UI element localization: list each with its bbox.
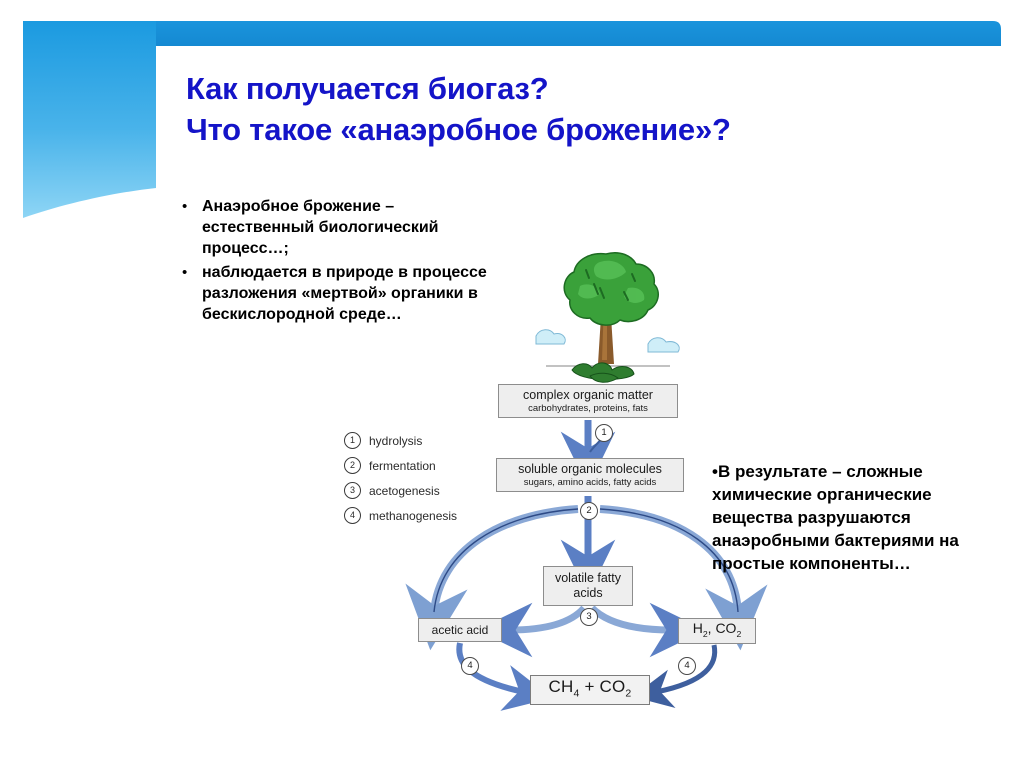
legend-item: 3 acetogenesis [344, 478, 504, 503]
node-methane-carbon-dioxide: CH4 + CO2 [530, 675, 650, 705]
node-acetic-acid: acetic acid [418, 618, 502, 642]
node-volatile-fatty-acids: volatile fatty acids [543, 566, 633, 606]
step-marker-4-left: 4 [461, 657, 479, 675]
node-hydrogen-carbon-dioxide: H2, CO2 [678, 618, 756, 644]
left-bullet-list: • Анаэробное брожение – естественный био… [180, 196, 510, 328]
tree-illustration [528, 240, 688, 390]
list-item: • Анаэробное брожение – естественный био… [180, 196, 510, 259]
right-conclusion-text: •В результате – сложные химические орган… [712, 460, 1012, 575]
legend-number-icon: 1 [344, 432, 361, 449]
node-title: H2, CO2 [693, 621, 742, 642]
node-subtitle: sugars, amino acids, fatty acids [524, 477, 657, 489]
title-line-1: Как получается биогаз? [186, 68, 916, 109]
title-line-2: Что такое «анаэробное брожение»? [186, 109, 916, 150]
legend-label: methanogenesis [369, 509, 457, 523]
node-title: acetic acid [432, 623, 489, 638]
step-marker-3: 3 [580, 608, 598, 626]
node-complex-organic-matter: complex organic matter carbohydrates, pr… [498, 384, 678, 418]
page-title: Как получается биогаз? Что такое «анаэро… [186, 68, 916, 150]
bullet-text: наблюдается в природе в процессе разложе… [202, 262, 510, 325]
node-title: complex organic matter [523, 388, 653, 403]
slide-canvas: Как получается биогаз? Что такое «анаэро… [0, 0, 1024, 767]
step-marker-1: 1 [595, 424, 613, 442]
legend-number-icon: 2 [344, 457, 361, 474]
node-title-line-2: acids [573, 586, 602, 601]
legend-label: hydrolysis [369, 434, 422, 448]
legend-item: 1 hydrolysis [344, 428, 504, 453]
bullet-marker-icon: • [180, 262, 202, 284]
legend-label: acetogenesis [369, 484, 440, 498]
bullet-text: Анаэробное брожение – естественный биоло… [202, 196, 510, 259]
legend-item: 2 fermentation [344, 453, 504, 478]
node-soluble-organic-molecules: soluble organic molecules sugars, amino … [496, 458, 684, 492]
step-marker-4-right: 4 [678, 657, 696, 675]
step-marker-2: 2 [580, 502, 598, 520]
legend-number-icon: 3 [344, 482, 361, 499]
conclusion-body: В результате – сложные химические органи… [712, 462, 959, 573]
list-item: • наблюдается в природе в процессе разло… [180, 262, 510, 325]
legend-number-icon: 4 [344, 507, 361, 524]
node-subtitle: carbohydrates, proteins, fats [528, 403, 648, 415]
process-legend: 1 hydrolysis 2 fermentation 3 acetogenes… [344, 428, 504, 528]
legend-item: 4 methanogenesis [344, 503, 504, 528]
node-title: soluble organic molecules [518, 462, 662, 477]
bullet-marker-icon: • [180, 196, 202, 218]
node-title: CH4 + CO2 [549, 679, 632, 701]
node-title-line-1: volatile fatty [555, 571, 621, 586]
legend-label: fermentation [369, 459, 436, 473]
